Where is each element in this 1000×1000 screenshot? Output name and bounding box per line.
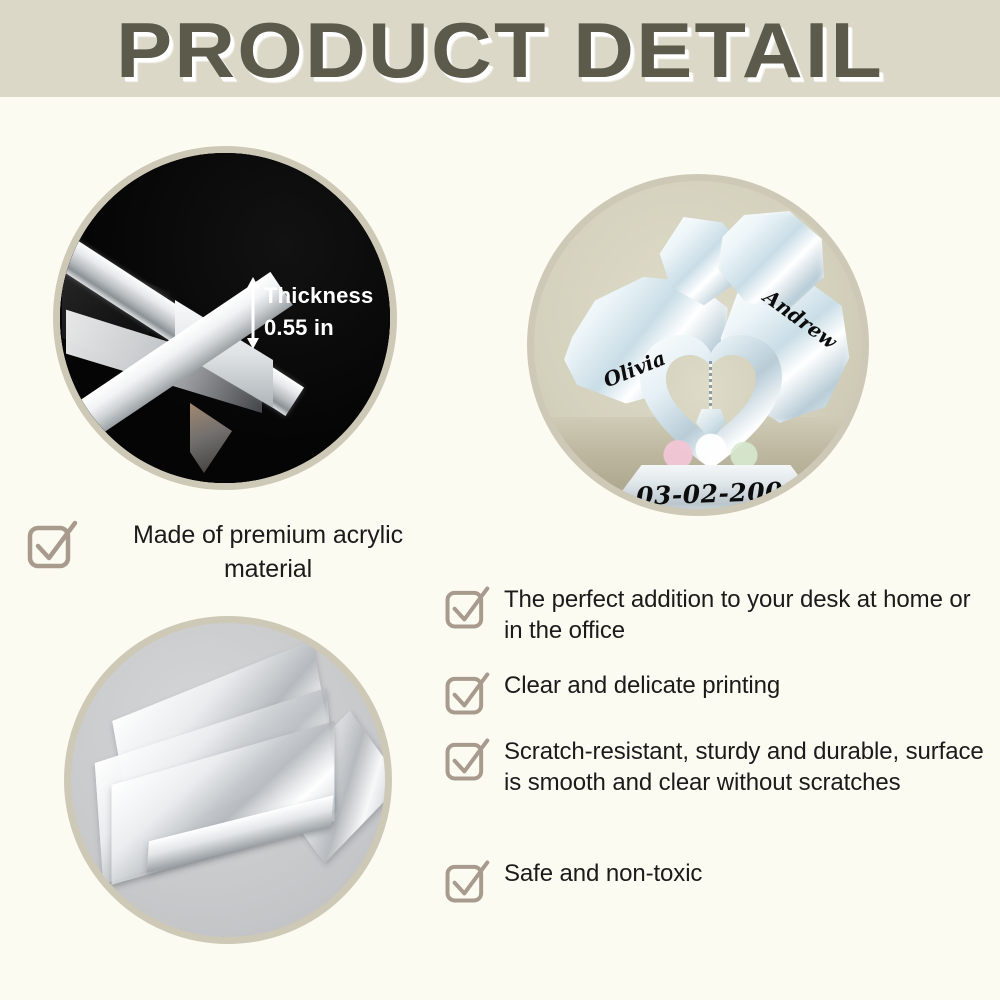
feature-label: Scratch-resistant, sturdy and durable, s… [504,736,992,798]
photo-thickness-closeup: Thickness 0.55 in [53,146,397,490]
photo-crystal-sculpture: Olivia Andrew 03-02-2009 [527,174,869,516]
feature-item-safe: Safe and non-toxic [444,858,992,904]
feature-item-scratch-resistant: Scratch-resistant, sturdy and durable, s… [444,736,992,798]
crystal-flowers [656,433,766,469]
feature-label: Clear and delicate printing [504,670,780,701]
feature-item-desk: The perfect addition to your desk at hom… [444,584,992,646]
checkbox-checked-icon [444,670,490,716]
checkbox-checked-icon [26,518,78,570]
double-arrow-vertical-icon [246,277,260,349]
engraved-date: 03-02-2009 [636,476,802,511]
checkbox-checked-icon [444,858,490,904]
thickness-label-line2: 0.55 in [264,312,373,344]
feature-label: Safe and non-toxic [504,858,702,889]
thickness-label: Thickness 0.55 in [264,280,373,344]
feature-item-printing: Clear and delicate printing [444,670,992,716]
product-detail-infographic: PRODUCT DETAIL Thickness 0.55 in [0,0,1000,1000]
photo-acrylic-sheets [64,616,392,944]
feature-item-material: Made of premium acrylic material [26,518,456,586]
heart-chain [709,361,712,409]
feature-label: The perfect addition to your desk at hom… [504,584,992,646]
checkbox-checked-icon [444,736,490,782]
sculpture-group: Olivia Andrew 03-02-2009 [560,211,850,489]
page-title: PRODUCT DETAIL [0,6,1000,94]
checkbox-checked-icon [444,584,490,630]
thickness-label-line1: Thickness [264,280,373,312]
header-banner: PRODUCT DETAIL [0,0,1000,97]
feature-label: Made of premium acrylic material [92,518,444,586]
